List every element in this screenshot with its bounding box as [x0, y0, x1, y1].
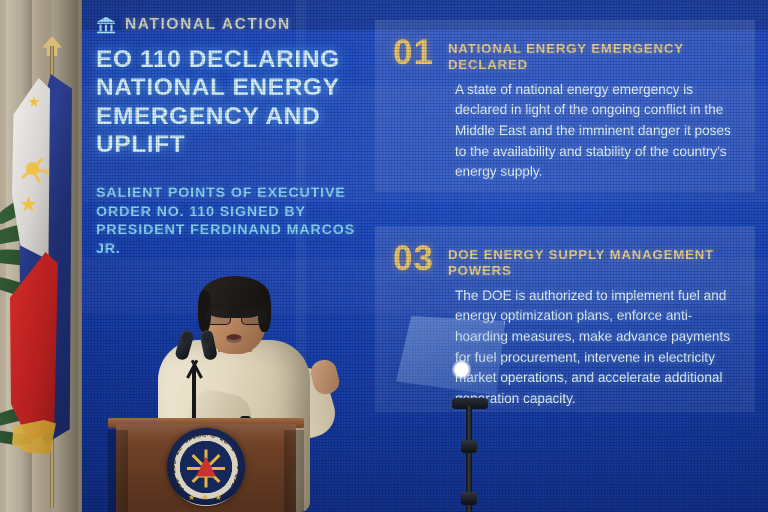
flag-white-triangle: [12, 78, 50, 260]
flag-red-band: [10, 252, 58, 442]
philippine-flag: [6, 16, 84, 508]
flag-star: [28, 96, 40, 108]
teleprompter-light-reflection: [452, 360, 471, 379]
presidential-seal: SAGISAG NG PANGULO NG PILIPINAS ★ ★ ★: [167, 428, 245, 506]
podium-side-panel: [284, 430, 304, 512]
teleprompter-knob: [461, 440, 477, 453]
speaker-mouth: [226, 334, 242, 343]
seal-stars: ★ ★ ★: [167, 493, 245, 502]
flag-star: [20, 196, 37, 213]
speaker-eyeglasses: [206, 308, 264, 323]
teleprompter-knob: [461, 492, 477, 505]
press-briefing-screenshot: NATIONAL ACTION EO 110 DECLARING NATIONA…: [0, 0, 768, 512]
flag-gold-fringe: [12, 420, 56, 454]
podium-side-panel: [108, 430, 128, 512]
